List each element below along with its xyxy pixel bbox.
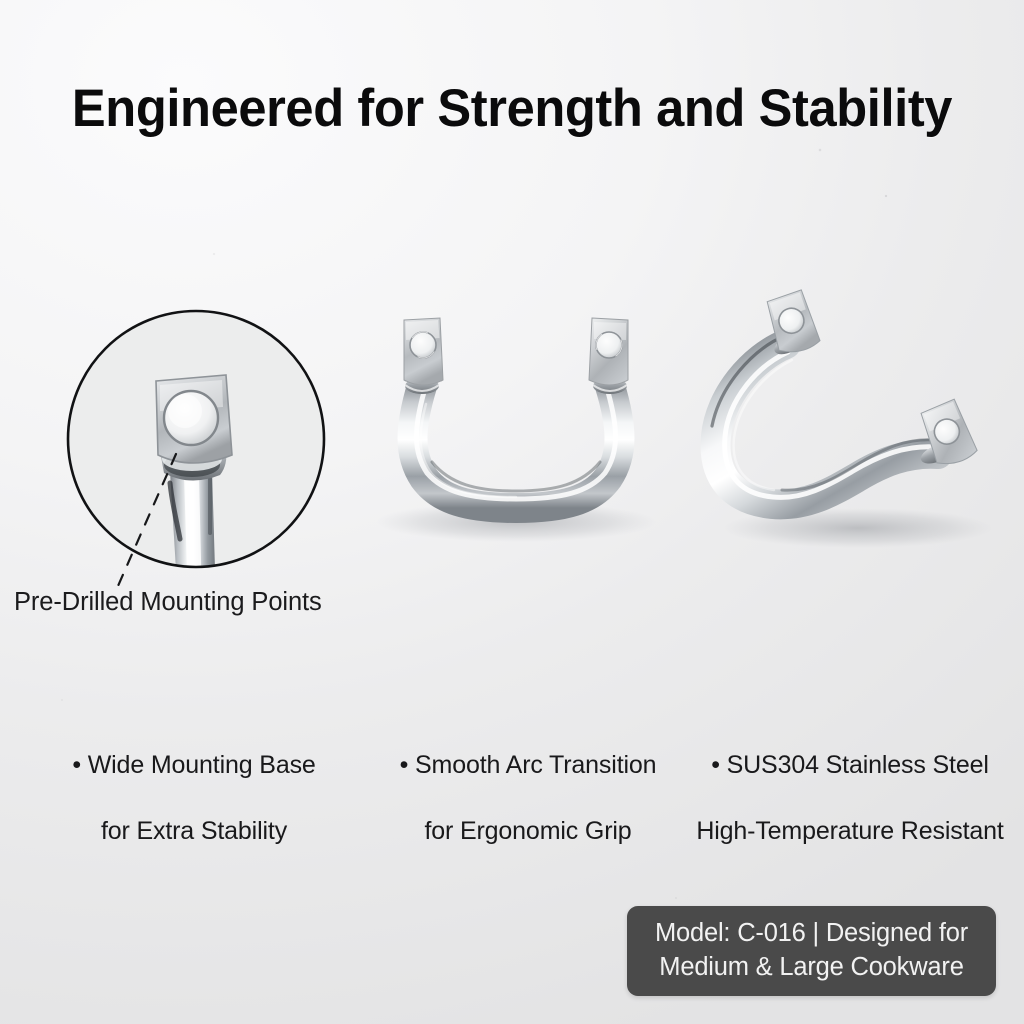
model-badge-line2: Medium & Large Cookware bbox=[659, 951, 963, 985]
mounting-tab-right bbox=[589, 318, 628, 385]
feature-item-3: • SUS304 Stainless Steel High-Temperatur… bbox=[686, 716, 1004, 881]
infographic-canvas: Engineered for Strength and Stability bbox=[0, 0, 1024, 1024]
handle-angled-view bbox=[712, 289, 993, 548]
feature-item-2: • Smooth Arc Transition for Ergonomic Gr… bbox=[370, 716, 686, 881]
feature-3-line2: High-Temperature Resistant bbox=[696, 815, 1004, 848]
handle-front-view bbox=[376, 318, 656, 542]
feature-2-line2: for Ergonomic Grip bbox=[374, 815, 682, 848]
callout-label: Pre-Drilled Mounting Points bbox=[14, 588, 322, 617]
feature-1-line1: • Wide Mounting Base bbox=[40, 749, 348, 782]
model-badge: Model: C-016 | Designed for Medium & Lar… bbox=[627, 906, 996, 996]
feature-item-1: • Wide Mounting Base for Extra Stability bbox=[40, 716, 370, 881]
model-badge-line1: Model: C-016 | Designed for bbox=[655, 917, 968, 951]
page-title: Engineered for Strength and Stability bbox=[23, 78, 1001, 139]
feature-list: • Wide Mounting Base for Extra Stability… bbox=[40, 716, 1004, 881]
feature-1-line2: for Extra Stability bbox=[40, 815, 348, 848]
callout-leader-line bbox=[90, 440, 210, 600]
feature-3-line1: • SUS304 Stainless Steel bbox=[696, 749, 1004, 782]
mounting-tab-left bbox=[404, 318, 443, 385]
feature-2-line1: • Smooth Arc Transition bbox=[374, 749, 682, 782]
